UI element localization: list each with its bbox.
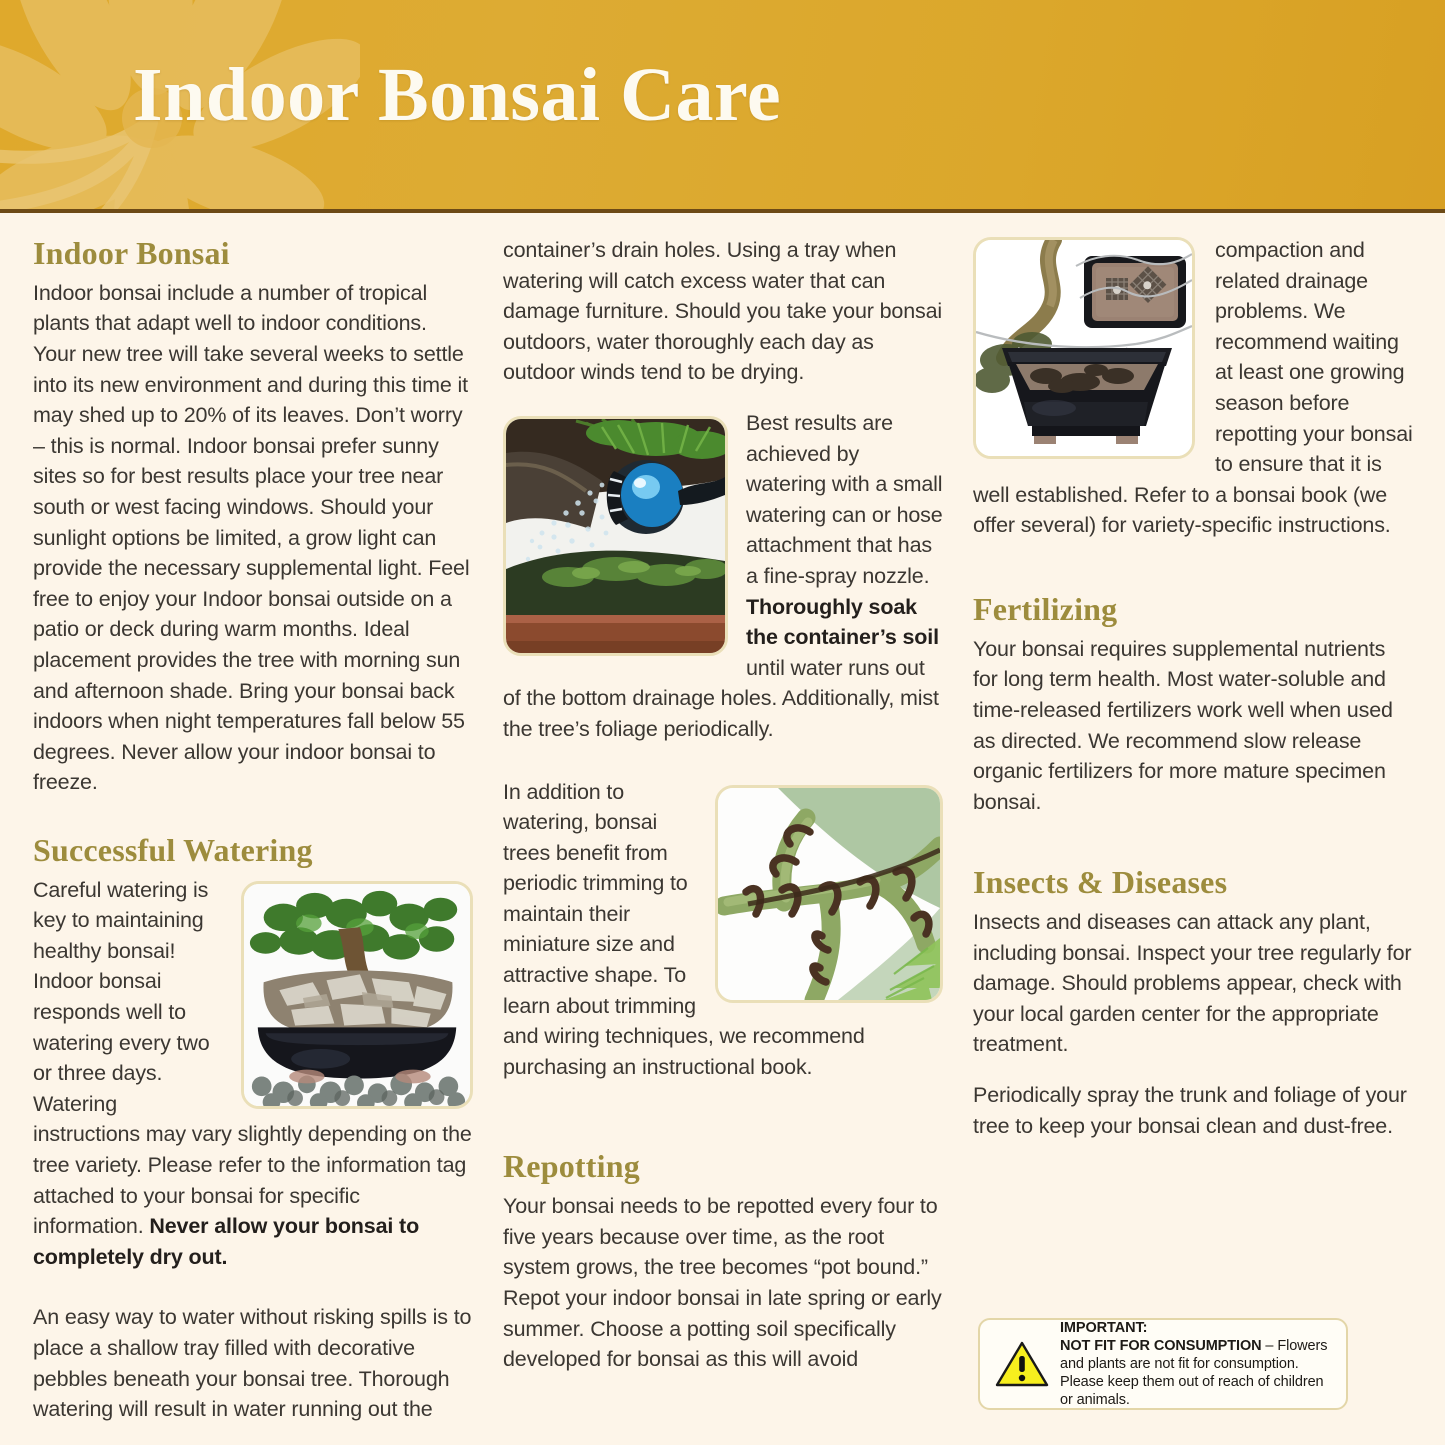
warning-headline: NOT FIT FOR CONSUMPTION xyxy=(1060,1338,1262,1354)
watering-block: Careful watering is key to maintaining h… xyxy=(33,875,473,1273)
photo-wired-branch xyxy=(715,785,943,1003)
poster-page: Indoor Bonsai Care Indoor Bonsai Indoor … xyxy=(0,0,1445,1445)
warning-important-label: IMPORTANT: xyxy=(1060,1320,1147,1336)
paragraph-repotting: Your bonsai needs to be repotted every f… xyxy=(503,1191,943,1375)
paragraph-spray: Periodically spray the trunk and foliage… xyxy=(973,1080,1413,1141)
heading-fertilizing: Fertilizing xyxy=(973,591,1413,628)
column-one: Indoor Bonsai Indoor bonsai include a nu… xyxy=(33,235,473,1445)
warning-triangle-icon xyxy=(994,1339,1050,1389)
paragraph-fertilizing: Your bonsai requires supplemental nutrie… xyxy=(973,634,1413,818)
best-results-tail: until water runs out of the bottom drain… xyxy=(503,656,939,741)
page-title: Indoor Bonsai Care xyxy=(133,52,781,139)
photo-watering-nozzle xyxy=(503,416,728,656)
paragraph-insects: Insects and diseases can attack any plan… xyxy=(973,907,1413,1060)
best-results-lead: Best results are achieved by watering wi… xyxy=(746,411,943,588)
photo-jade-bonsai xyxy=(241,881,473,1109)
paragraph-indoor-bonsai: Indoor bonsai include a number of tropic… xyxy=(33,278,473,798)
column-three: compaction and related drainage problems… xyxy=(973,235,1413,1161)
photo-repotting-pot xyxy=(973,237,1195,459)
warning-text-block: IMPORTANT: NOT FIT FOR CONSUMPTION – Flo… xyxy=(1060,1319,1336,1409)
repotting-pot-art xyxy=(976,240,1192,456)
heading-indoor-bonsai: Indoor Bonsai xyxy=(33,235,473,272)
jade-bonsai-art xyxy=(244,884,470,1106)
watering-nozzle-art xyxy=(506,419,725,653)
column-two: container’s drain holes. Using a tray wh… xyxy=(503,235,943,1395)
heading-successful-watering: Successful Watering xyxy=(33,832,473,869)
page-header: Indoor Bonsai Care xyxy=(0,0,1445,213)
content-columns: Indoor Bonsai Indoor bonsai include a nu… xyxy=(0,209,1445,1445)
best-results-block: Best results are achieved by watering wi… xyxy=(503,408,943,745)
wired-branch-art xyxy=(718,788,940,1000)
important-warning-box: IMPORTANT: NOT FIT FOR CONSUMPTION – Flo… xyxy=(978,1318,1348,1410)
heading-insects-diseases: Insects & Diseases xyxy=(973,864,1413,901)
trimming-block: In addition to watering, bonsai trees be… xyxy=(503,777,943,1083)
compaction-block: compaction and related drainage problems… xyxy=(973,235,1413,541)
best-results-bold: Thoroughly soak the container’s soil xyxy=(746,595,939,650)
paragraph-watering-tray: An easy way to water without risking spi… xyxy=(33,1302,473,1424)
heading-repotting: Repotting xyxy=(503,1148,943,1185)
paragraph-drain-holes: container’s drain holes. Using a tray wh… xyxy=(503,235,943,388)
